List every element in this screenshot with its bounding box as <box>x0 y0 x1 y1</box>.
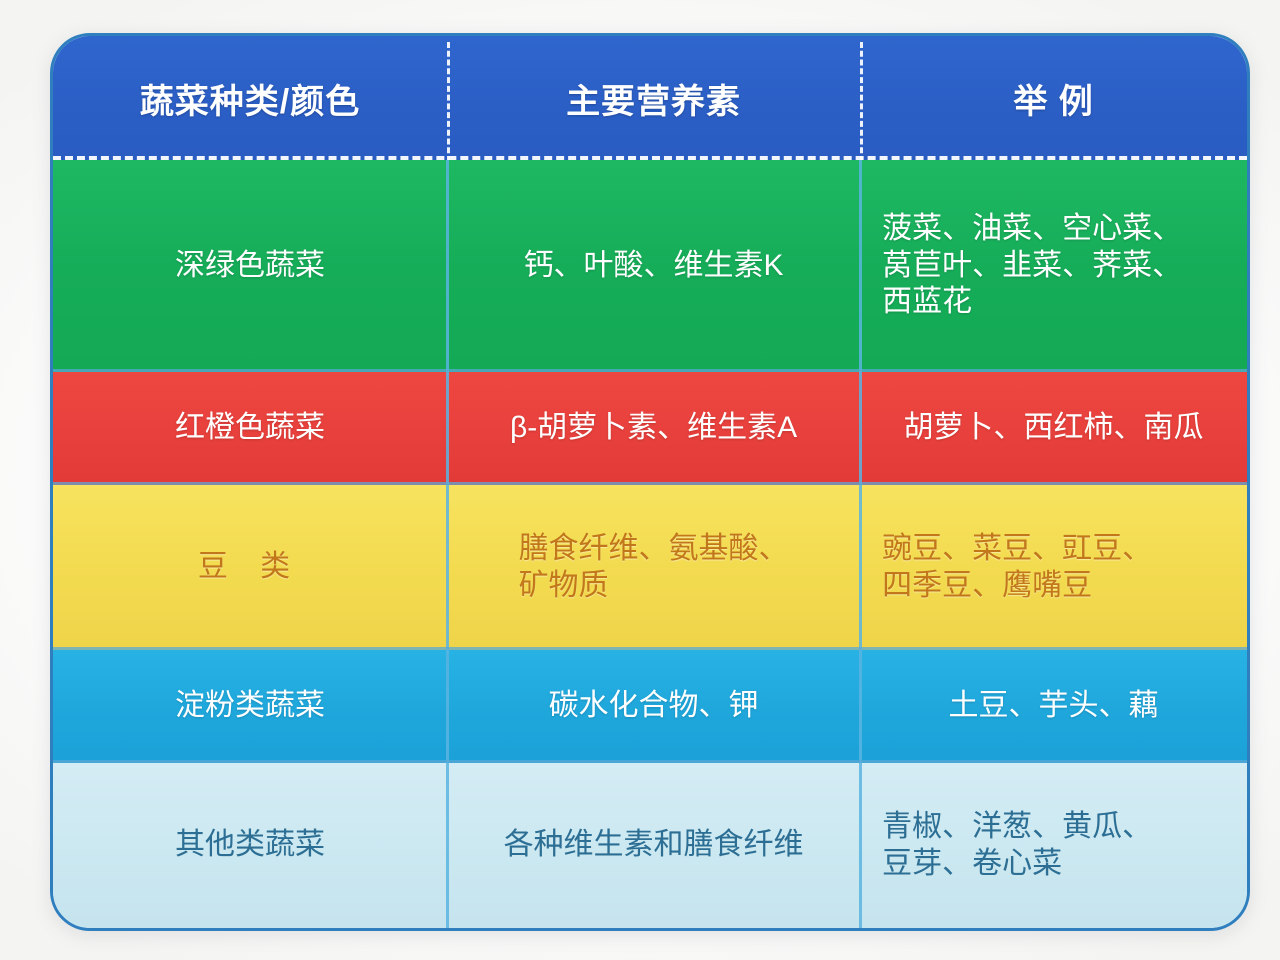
row-divider-1 <box>446 160 449 372</box>
cell-examples-beans: 豌豆、菜豆、豇豆、 四季豆、鹰嘴豆 <box>860 485 1247 650</box>
cell-examples-red-orange: 胡萝卜、西红柿、南瓜 <box>860 372 1247 485</box>
cell-nutrients-starchy: 碳水化合物、钾 <box>447 650 860 763</box>
header-label-category: 蔬菜种类/颜色 <box>140 74 360 123</box>
header-cell-nutrients: 主要营养素 <box>447 36 860 160</box>
page-background: 蔬菜种类/颜色 主要营养素 举 例 深绿色蔬菜 钙、叶酸、维生素K 菠菜、油菜、… <box>0 0 1280 960</box>
row-divider-1 <box>446 485 449 650</box>
category-label: 淀粉类蔬菜 <box>175 688 325 725</box>
category-label: 深绿色蔬菜 <box>175 248 325 285</box>
table-header-row: 蔬菜种类/颜色 主要营养素 举 例 <box>53 36 1247 160</box>
row-divider-1 <box>446 372 449 485</box>
category-label: 豆 类 <box>198 549 302 586</box>
cell-nutrients-beans: 膳食纤维、氨基酸、 矿物质 <box>447 485 860 650</box>
examples-label: 土豆、芋头、藕 <box>949 688 1159 725</box>
cell-examples-starchy: 土豆、芋头、藕 <box>860 650 1247 763</box>
header-label-nutrients: 主要营养素 <box>566 74 741 123</box>
cell-category-other: 其他类蔬菜 <box>53 763 447 928</box>
row-divider-2 <box>859 650 862 763</box>
table-row: 其他类蔬菜 各种维生素和膳食纤维 青椒、洋葱、黄瓜、 豆芽、卷心菜 <box>53 763 1247 928</box>
nutrients-label: 碳水化合物、钾 <box>549 688 759 725</box>
examples-label: 青椒、洋葱、黄瓜、 豆芽、卷心菜 <box>860 809 1152 882</box>
cell-category-beans: 豆 类 <box>53 485 447 650</box>
category-label: 红橙色蔬菜 <box>175 410 325 447</box>
nutrients-label: 钙、叶酸、维生素K <box>524 248 784 285</box>
row-divider-1 <box>446 763 449 928</box>
row-divider-1 <box>446 650 449 763</box>
nutrients-label: 膳食纤维、氨基酸、 矿物质 <box>519 531 789 604</box>
cell-category-red-orange: 红橙色蔬菜 <box>53 372 447 485</box>
cell-category-dark-green: 深绿色蔬菜 <box>53 160 447 372</box>
examples-label: 菠菜、油菜、空心菜、 莴苣叶、韭菜、荠菜、 西蓝花 <box>860 211 1182 321</box>
header-divider-1 <box>447 42 450 162</box>
cell-nutrients-dark-green: 钙、叶酸、维生素K <box>447 160 860 372</box>
cell-category-starchy: 淀粉类蔬菜 <box>53 650 447 763</box>
table-row: 红橙色蔬菜 β-胡萝卜素、维生素A 胡萝卜、西红柿、南瓜 <box>53 372 1247 485</box>
header-cell-examples: 举 例 <box>860 36 1247 160</box>
row-divider-2 <box>859 372 862 485</box>
row-divider-2 <box>859 485 862 650</box>
cell-nutrients-red-orange: β-胡萝卜素、维生素A <box>447 372 860 485</box>
header-cell-category: 蔬菜种类/颜色 <box>53 36 447 160</box>
nutrients-label: 各种维生素和膳食纤维 <box>504 827 804 864</box>
header-divider-2 <box>860 42 863 162</box>
header-label-examples: 举 例 <box>1013 74 1093 123</box>
table-row: 豆 类 膳食纤维、氨基酸、 矿物质 豌豆、菜豆、豇豆、 四季豆、鹰嘴豆 <box>53 485 1247 650</box>
vegetable-nutrition-table: 蔬菜种类/颜色 主要营养素 举 例 深绿色蔬菜 钙、叶酸、维生素K 菠菜、油菜、… <box>50 33 1250 931</box>
row-divider-2 <box>859 763 862 928</box>
cell-examples-dark-green: 菠菜、油菜、空心菜、 莴苣叶、韭菜、荠菜、 西蓝花 <box>860 160 1247 372</box>
examples-label: 胡萝卜、西红柿、南瓜 <box>904 410 1204 447</box>
cell-examples-other: 青椒、洋葱、黄瓜、 豆芽、卷心菜 <box>860 763 1247 928</box>
nutrients-label: β-胡萝卜素、维生素A <box>510 410 797 447</box>
cell-nutrients-other: 各种维生素和膳食纤维 <box>447 763 860 928</box>
category-label: 其他类蔬菜 <box>175 827 325 864</box>
table-row: 淀粉类蔬菜 碳水化合物、钾 土豆、芋头、藕 <box>53 650 1247 763</box>
row-divider-2 <box>859 160 862 372</box>
table-row: 深绿色蔬菜 钙、叶酸、维生素K 菠菜、油菜、空心菜、 莴苣叶、韭菜、荠菜、 西蓝… <box>53 160 1247 372</box>
examples-label: 豌豆、菜豆、豇豆、 四季豆、鹰嘴豆 <box>860 531 1152 604</box>
